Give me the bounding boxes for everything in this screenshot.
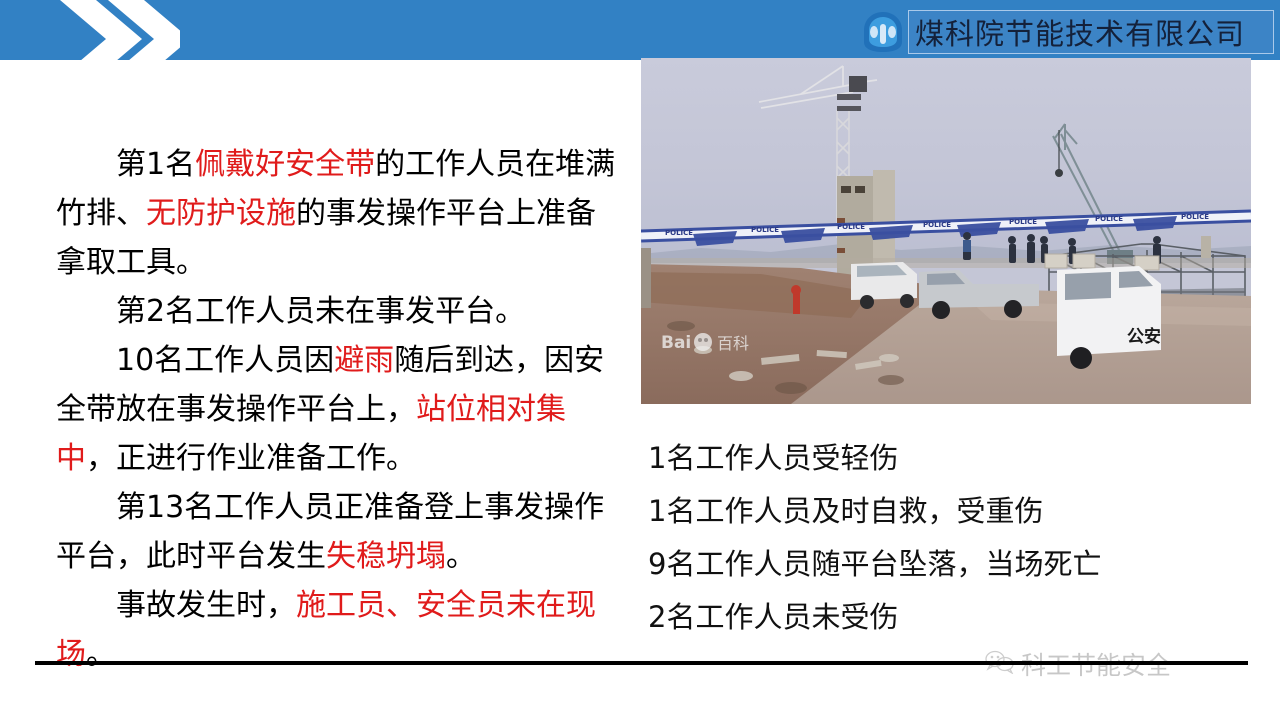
- run-text: 第1名: [116, 147, 195, 182]
- svg-text:POLICE: POLICE: [1181, 213, 1209, 221]
- footer-divider: [35, 661, 1248, 665]
- accident-site-photo: POLICE POLICE POLICE POLICE POLICE POLIC…: [641, 58, 1251, 404]
- china-coal-emblem-icon: [852, 8, 914, 56]
- run-highlight: 避雨: [334, 343, 394, 378]
- casualty-list: 1名工作人员受轻伤 1名工作人员及时自救，受重伤 9名工作人员随平台坠落，当场死…: [648, 432, 1268, 644]
- svg-text:公安: 公安: [1127, 326, 1161, 347]
- company-title-text: 煤科院节能技术有限公司: [915, 11, 1245, 53]
- svg-text:Bai: Bai: [661, 333, 691, 353]
- double-chevron-right-icon: [50, 0, 180, 78]
- casualty-line: 2名工作人员未受伤: [648, 591, 1268, 644]
- run-highlight: 失稳坍塌: [326, 539, 446, 574]
- svg-text:POLICE: POLICE: [1009, 218, 1037, 226]
- casualty-line: 9名工作人员随平台坠落，当场死亡: [648, 538, 1268, 591]
- svg-text:POLICE: POLICE: [665, 229, 693, 237]
- svg-text:POLICE: POLICE: [837, 223, 865, 231]
- narrative-paragraph-4: 第13名工作人员正准备登上事发操作平台，此时平台发生失稳坍塌。: [56, 483, 616, 581]
- narrative-paragraph-1: 第1名佩戴好安全带的工作人员在堆满竹排、无防护设施的事发操作平台上准备拿取工具。: [56, 140, 616, 287]
- narrative-paragraph-2: 第2名工作人员未在事发平台。: [56, 287, 616, 336]
- svg-text:POLICE: POLICE: [1095, 215, 1123, 223]
- run-text: 。: [446, 539, 476, 574]
- company-title-box: 煤科院节能技术有限公司: [908, 10, 1274, 54]
- svg-text:百科: 百科: [717, 334, 749, 353]
- narrative-column: 第1名佩戴好安全带的工作人员在堆满竹排、无防护设施的事发操作平台上准备拿取工具。…: [56, 140, 616, 679]
- run-highlight: 佩戴好安全带: [195, 147, 375, 182]
- run-text: 第2名工作人员未在事发平台。: [116, 294, 525, 329]
- narrative-paragraph-3: 10名工作人员因避雨随后到达，因安全带放在事发操作平台上，站位相对集中，正进行作…: [56, 336, 616, 483]
- run-text: 10名工作人员因: [116, 343, 334, 378]
- svg-text:POLICE: POLICE: [751, 226, 779, 234]
- casualty-line: 1名工作人员受轻伤: [648, 432, 1268, 485]
- svg-text:POLICE: POLICE: [923, 221, 951, 229]
- run-text: 事故发生时，: [116, 588, 296, 623]
- run-text: ，正进行作业准备工作。: [86, 441, 416, 476]
- run-text: 。: [86, 637, 116, 672]
- casualty-line: 1名工作人员及时自救，受重伤: [648, 485, 1268, 538]
- run-highlight: 无防护设施: [146, 196, 296, 231]
